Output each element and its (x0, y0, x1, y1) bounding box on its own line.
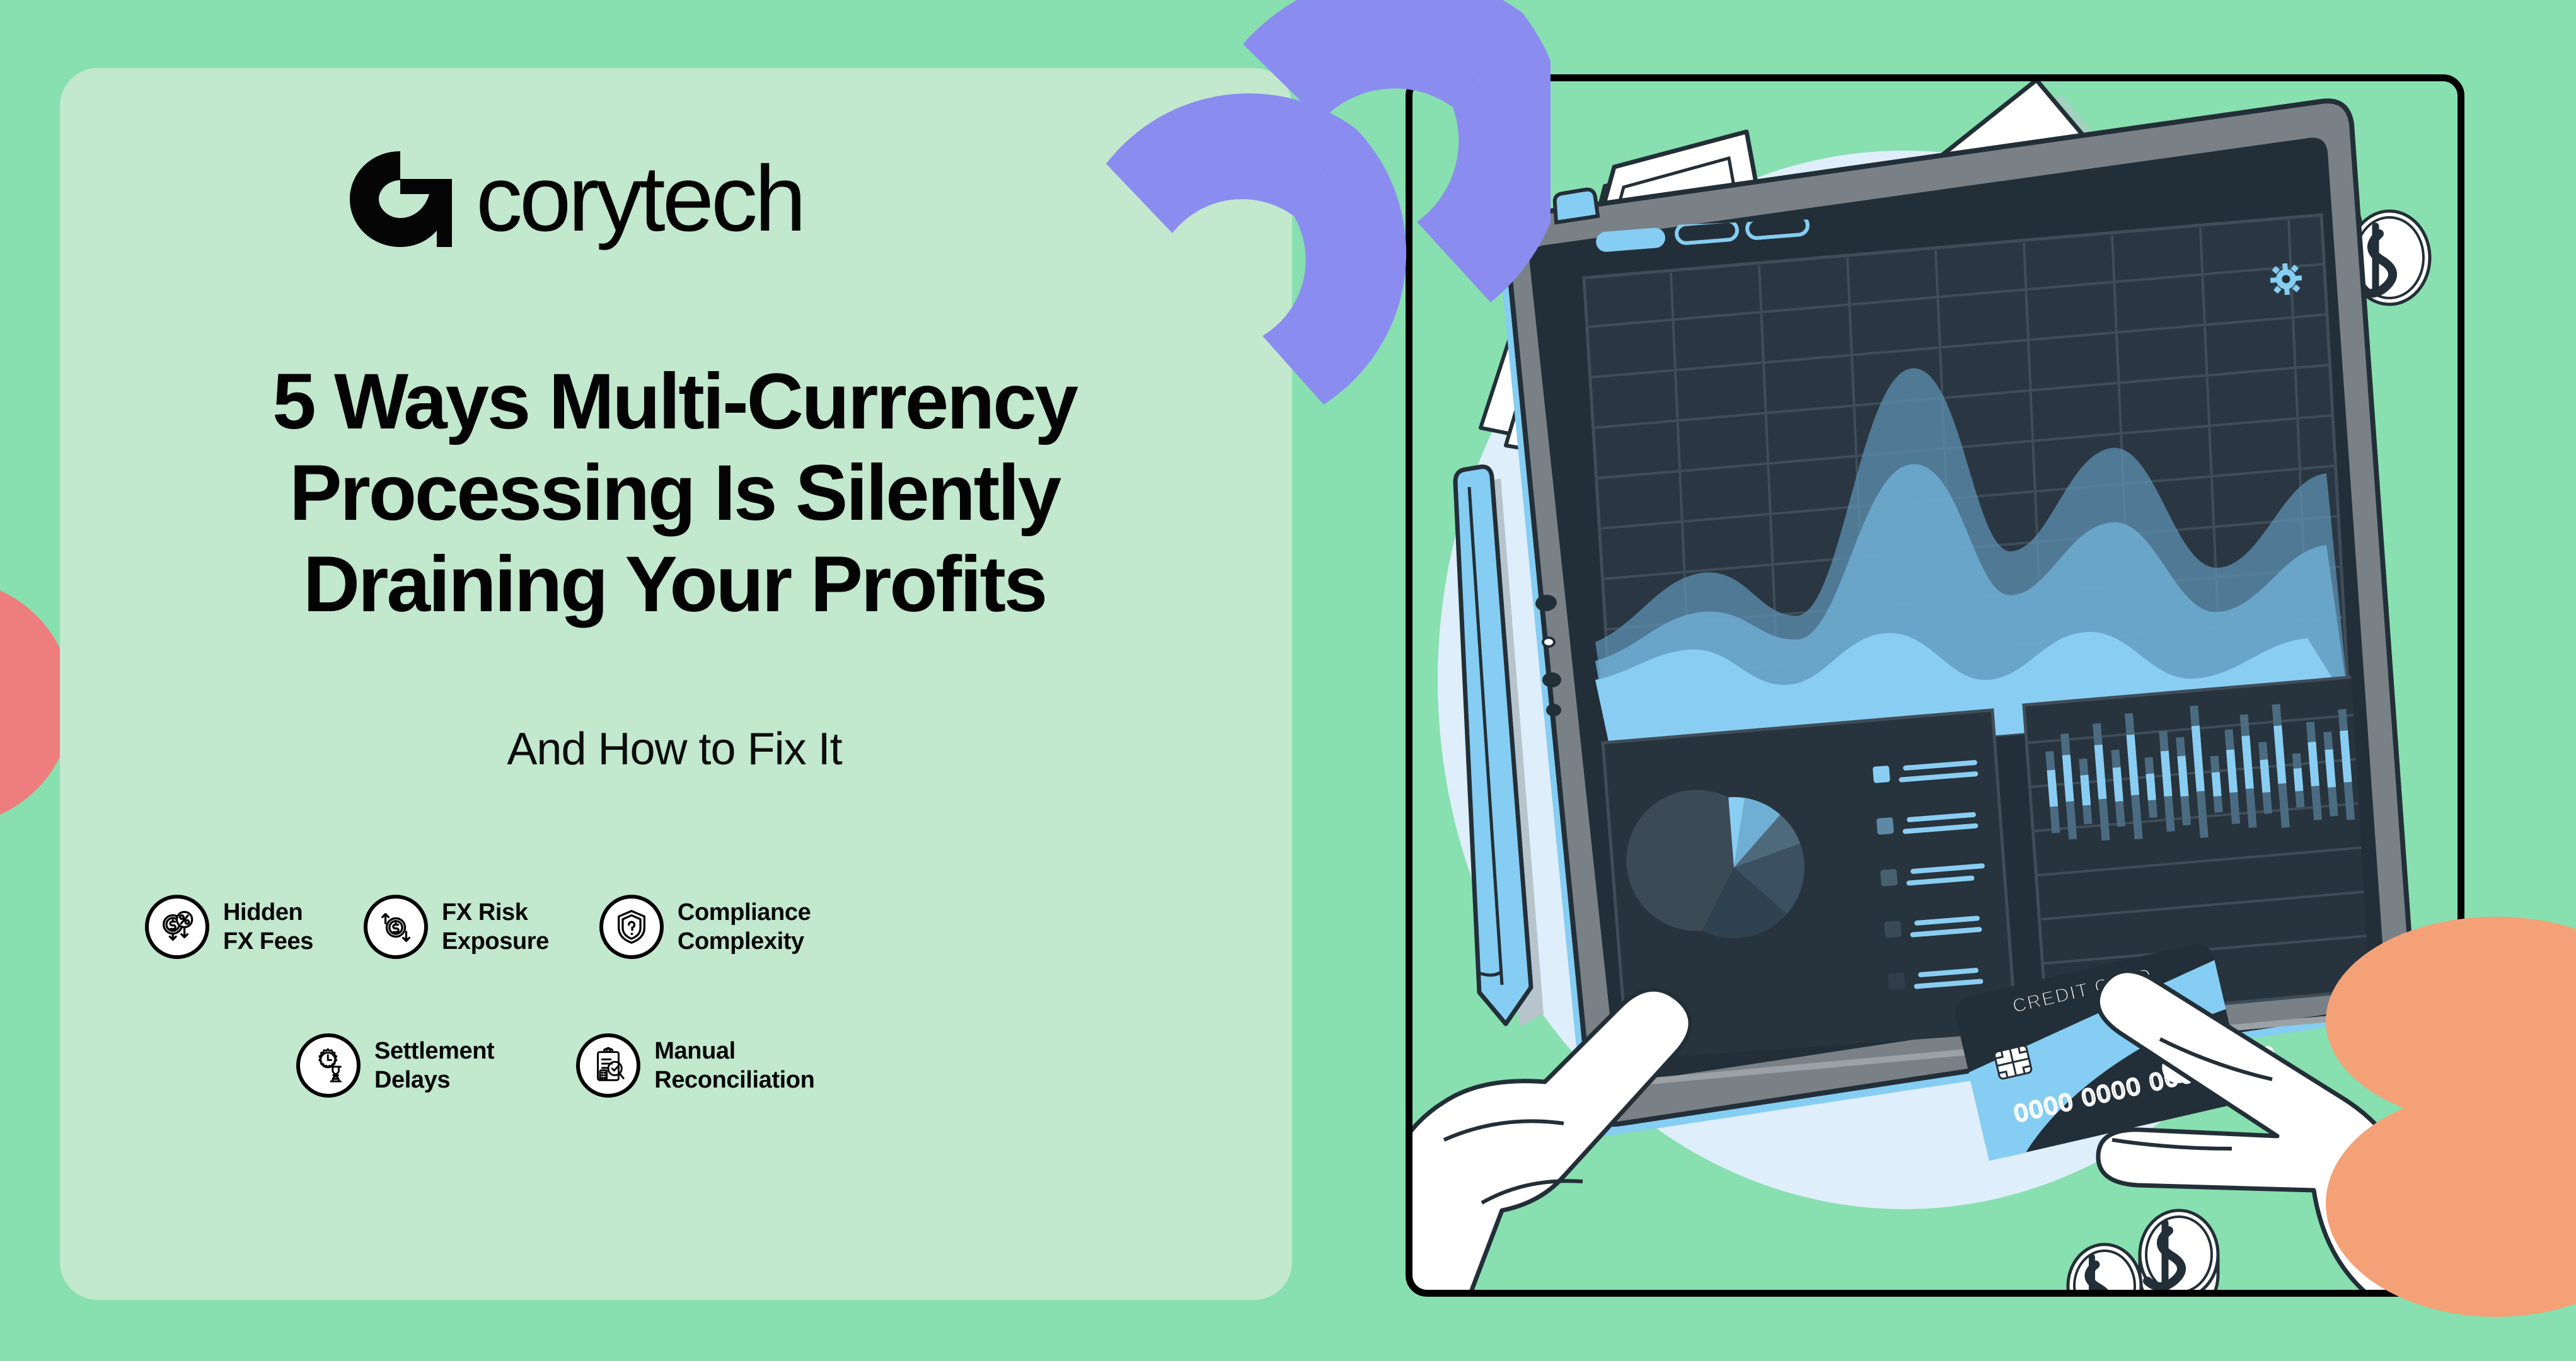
clipboard-magnifier-check-icon (576, 1033, 640, 1098)
gear-clock-hourglass-icon (296, 1033, 361, 1098)
tablet-desk-illustration: CREDIT CARD 0000 0000 0000 0000 (1412, 81, 2458, 1290)
feature-label: Hidden FX Fees (223, 898, 313, 956)
feature-label: FX Risk Exposure (442, 898, 549, 956)
area-chart-widget (1584, 215, 2349, 768)
left-content-card (60, 68, 1292, 1300)
shield-question-icon (599, 895, 664, 959)
feature-fx-risk-exposure: FX Risk Exposure (364, 895, 549, 959)
brand-logo: corytech (350, 151, 803, 247)
brand-wordmark: corytech (476, 152, 803, 246)
headline-line-3: Draining Your Profits (82, 539, 1267, 630)
chip-icon (1994, 1045, 2032, 1079)
illustration-frame: CREDIT CARD 0000 0000 0000 0000 (1406, 74, 2464, 1297)
feature-label: Manual Reconciliation (654, 1037, 814, 1095)
feature-label: Compliance Complexity (678, 898, 811, 956)
headline-line-2: Processing Is Silently (82, 447, 1267, 539)
page-subtitle: And How to Fix It (82, 723, 1267, 775)
page-title: 5 Ways Multi-Currency Processing Is Sile… (82, 356, 1267, 630)
headline-line-1: 5 Ways Multi-Currency (82, 356, 1267, 447)
feature-row-primary: Hidden FX Fees FX Risk Exposure Complian… (145, 895, 811, 959)
coin-percent-down-arrows-icon (145, 895, 209, 959)
feature-row-secondary: Settlement Delays Manual Reconciliation (296, 1033, 814, 1098)
feature-settlement-delays: Settlement Delays (296, 1033, 494, 1098)
feature-compliance-complexity: Compliance Complexity (599, 895, 811, 959)
feature-hidden-fx-fees: Hidden FX Fees (145, 895, 313, 959)
tablet-device (1499, 101, 2413, 1135)
corytech-g-mark-icon (350, 151, 452, 247)
feature-label: Settlement Delays (374, 1037, 494, 1095)
feature-manual-reconciliation: Manual Reconciliation (576, 1033, 814, 1098)
coin-up-down-arrows-icon (364, 895, 428, 959)
